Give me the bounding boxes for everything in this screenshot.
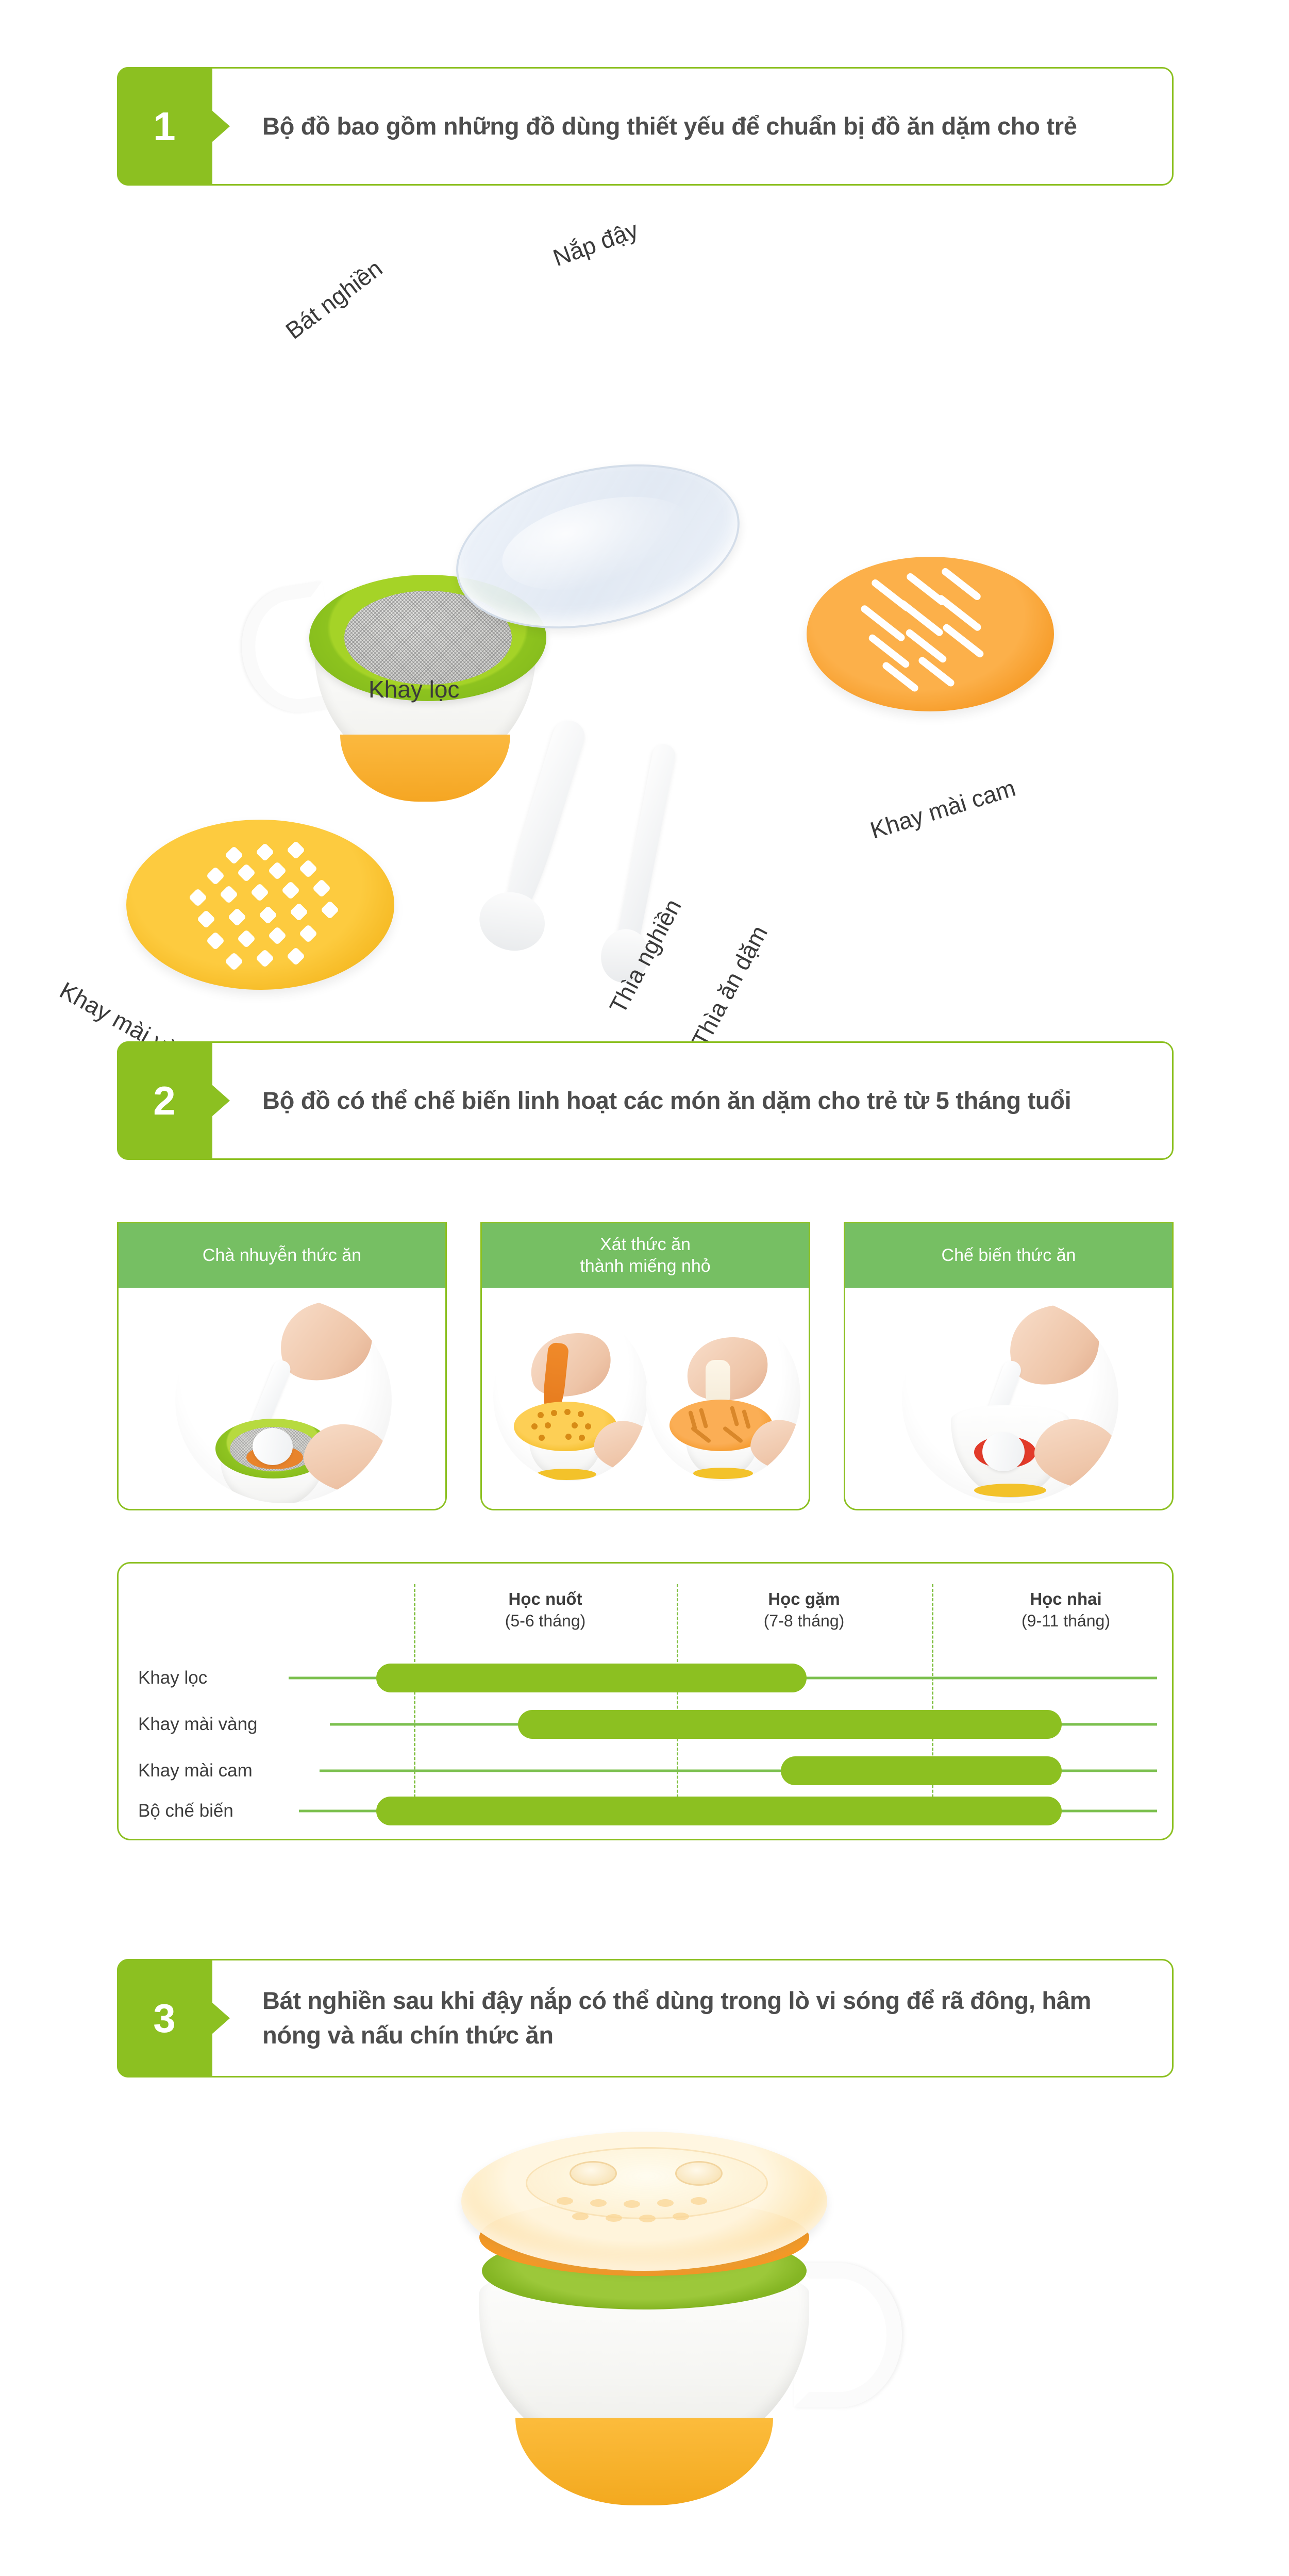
feature-card-mash[interactable]: Chà nhuyễn thức ăn: [117, 1222, 447, 1510]
stage-column-header-2: Học gặm (7-8 tháng): [764, 1588, 845, 1632]
section-number-2: 2: [153, 1081, 176, 1121]
section-header-2: 2 Bộ đồ có thể chế biến linh hoạt các mó…: [117, 1041, 1174, 1160]
section-number-badge-1: 1: [117, 67, 212, 186]
masher-spoon-shape: [495, 717, 589, 933]
badge-arrow-icon: [212, 2003, 230, 2034]
feature-card-grate[interactable]: Xát thức ăn thành miếng nhỏ: [480, 1222, 810, 1510]
feature-card-title: Chà nhuyễn thức ăn: [119, 1223, 445, 1288]
chart-row-label-bo-che-bien: Bộ chế biến: [138, 1801, 233, 1821]
chart-row-label-khay-mai-cam: Khay mài cam: [138, 1760, 253, 1781]
section-title-1: Bộ đồ bao gồm những đồ dùng thiết yếu để…: [262, 67, 1153, 186]
orange-grater-shape: [807, 557, 1054, 711]
stage-column-header-3: Học nhai (9-11 tháng): [1022, 1588, 1110, 1632]
assembled-lid-dot: [657, 2199, 674, 2207]
yellow-grater-shape: [126, 820, 394, 990]
stage-divider-2: [677, 1584, 678, 1816]
assembled-lid-dot: [691, 2197, 707, 2205]
label-bat-nghien: Bát nghiền: [280, 254, 388, 345]
label-thia-an-dam: Thìa ăn dặm: [686, 921, 773, 1051]
product-exploded-diagram: Nắp đậy Bát nghiền Khay lọc Khay mài cam…: [0, 196, 1289, 1000]
feature-card-prepare[interactable]: Chế biến thức ăn: [844, 1222, 1174, 1510]
section-number-badge-2: 2: [117, 1041, 212, 1160]
chart-row-label-khay-mai-vang: Khay mài vàng: [138, 1714, 258, 1735]
chart-bar-khay-loc: [376, 1664, 807, 1692]
feature-card-title: Xát thức ăn thành miếng nhỏ: [482, 1223, 809, 1288]
assembled-lid-dot: [606, 2214, 622, 2222]
feature-card-photo-mash: [119, 1288, 445, 1509]
badge-arrow-icon: [212, 111, 230, 142]
section-header-3: 3 Bát nghiền sau khi đậy nắp có thể dùng…: [117, 1959, 1174, 2078]
feature-card-title: Chế biến thức ăn: [845, 1223, 1172, 1288]
section-header-1: 1 Bộ đồ bao gồm những đồ dùng thiết yếu …: [117, 67, 1174, 186]
chart-row-label-khay-loc: Khay lọc: [138, 1668, 207, 1688]
chart-bar-khay-mai-vang: [518, 1710, 1062, 1739]
assembled-lid-dot: [572, 2213, 589, 2220]
assembled-lid-dot: [557, 2197, 573, 2205]
stage-divider-1: [414, 1584, 415, 1816]
feature-card-list: Chà nhuyễn thức ăn Xát thức ăn thành miế…: [117, 1222, 1174, 1510]
section-number-1: 1: [153, 106, 176, 146]
assembled-lid-dot: [624, 2200, 640, 2208]
assembled-lid-vent-right: [675, 2161, 723, 2186]
age-stage-timeline-chart: Học nuốt (5-6 tháng) Học gặm (7-8 tháng)…: [117, 1562, 1174, 1840]
label-khay-mai-cam: Khay mài cam: [867, 774, 1018, 844]
feature-card-photo-prepare: [845, 1288, 1172, 1509]
feature-card-photo-grate: [482, 1288, 809, 1509]
assembled-lid-dot: [639, 2215, 656, 2222]
section-title-3: Bát nghiền sau khi đậy nắp có thể dùng t…: [262, 1959, 1153, 2078]
assembled-lid-vent-left: [570, 2161, 617, 2186]
stage-column-header-1: Học nuốt (5-6 tháng): [505, 1588, 586, 1632]
badge-arrow-icon: [212, 1085, 230, 1116]
section-number-3: 3: [153, 1998, 176, 2038]
assembled-lid-dot: [673, 2213, 689, 2220]
bowl-base-shape: [340, 735, 510, 802]
assembled-lid-dot: [590, 2199, 607, 2207]
label-khay-loc: Khay lọc: [369, 675, 459, 703]
chart-bar-bo-che-bien: [376, 1797, 1062, 1825]
chart-bar-khay-mai-cam: [781, 1756, 1062, 1785]
section-title-2: Bộ đồ có thể chế biến linh hoạt các món …: [262, 1041, 1153, 1160]
label-nap-day: Nắp đậy: [549, 215, 642, 272]
section-number-badge-3: 3: [117, 1959, 212, 2078]
assembled-lid-inner-shape: [526, 2147, 768, 2219]
